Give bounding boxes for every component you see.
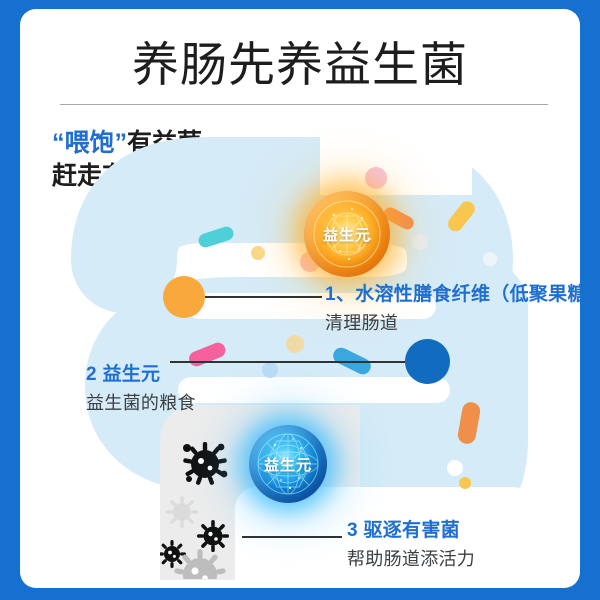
callout-3-subtext: 帮助肠道添活力 [347, 545, 475, 571]
sphere-label-orange: 益生元 [323, 224, 371, 245]
callout-2-subtext: 益生菌的粮食 [86, 389, 196, 415]
germ-icon-faded [166, 496, 198, 528]
prebiotic-sphere-orange: 益生元 [304, 191, 390, 277]
marker-dot-callout-1 [163, 276, 205, 318]
callout-1: 1、水溶性膳食纤维（低聚果糖） 清理肠道 [325, 279, 580, 335]
callout-3: 3 驱逐有害菌 帮助肠道添活力 [347, 515, 475, 571]
white-content-panel: 养肠先养益生菌 “喂饱”有益菌 赶走有害菌 [20, 9, 580, 588]
marker-dot-callout-2 [405, 339, 450, 384]
prebiotic-sphere-blue: 益生元 [249, 425, 327, 503]
callout-3-heading: 3 驱逐有害菌 [347, 515, 475, 542]
infographic-poster: 养肠先养益生菌 “喂饱”有益菌 赶走有害菌 [0, 0, 600, 600]
callout-1-heading: 1、水溶性膳食纤维（低聚果糖） [325, 279, 580, 306]
callout-2-heading: 2 益生元 [86, 359, 196, 386]
germ-icon-leader-target [197, 520, 229, 552]
callout-1-subtext: 清理肠道 [325, 309, 580, 335]
callout-2: 2 益生元 益生菌的粮食 [86, 359, 196, 415]
leader-line-callout-1 [205, 296, 322, 298]
germ-icon-small-dark [158, 540, 186, 568]
leader-line-callout-3 [242, 536, 342, 538]
sphere-label-blue: 益生元 [264, 454, 312, 475]
leader-line-callout-2 [170, 361, 409, 363]
